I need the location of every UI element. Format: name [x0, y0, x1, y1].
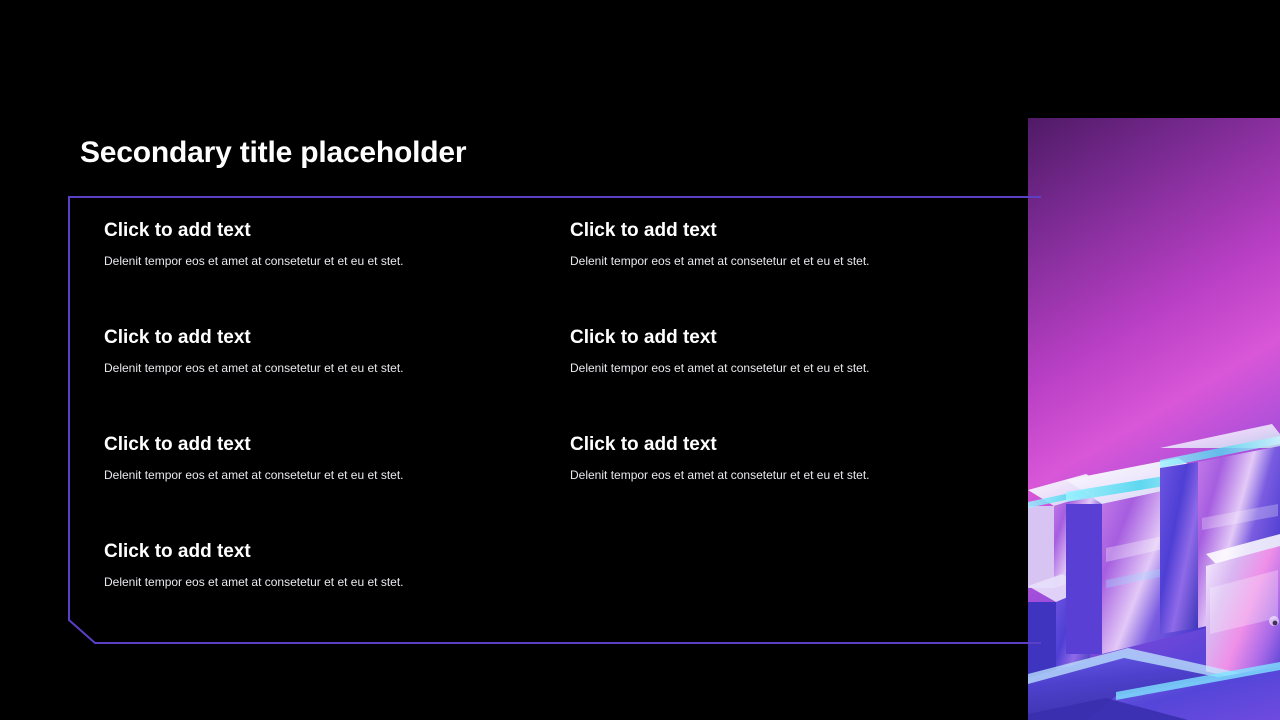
cell-body[interactable]: Delenit tempor eos et amet at consetetur… — [104, 361, 544, 376]
slide-title: Secondary title placeholder — [80, 133, 466, 173]
abstract-3d-glass-blocks-image — [1028, 118, 1280, 720]
cell-heading[interactable]: Click to add text — [104, 540, 544, 564]
cell-body[interactable]: Delenit tempor eos et amet at consetetur… — [104, 468, 544, 483]
cell-body[interactable]: Delenit tempor eos et amet at consetetur… — [570, 254, 1010, 269]
content-cell[interactable]: Click to add text Delenit tempor eos et … — [570, 433, 1010, 483]
content-cell[interactable]: Click to add text Delenit tempor eos et … — [104, 219, 544, 269]
content-cell[interactable]: Click to add text Delenit tempor eos et … — [104, 326, 544, 376]
cell-body[interactable]: Delenit tempor eos et amet at consetetur… — [104, 254, 544, 269]
cell-heading[interactable]: Click to add text — [104, 219, 544, 243]
content-cell[interactable]: Click to add text Delenit tempor eos et … — [570, 326, 1010, 376]
cell-heading[interactable]: Click to add text — [570, 326, 1010, 350]
cell-heading[interactable]: Click to add text — [570, 433, 1010, 457]
cell-body[interactable]: Delenit tempor eos et amet at consetetur… — [570, 468, 1010, 483]
cell-heading[interactable]: Click to add text — [104, 326, 544, 350]
cell-body[interactable]: Delenit tempor eos et amet at consetetur… — [570, 361, 1010, 376]
cell-heading[interactable]: Click to add text — [570, 219, 1010, 243]
presentation-slide: Secondary title placeholder Click to add… — [0, 0, 1280, 720]
cell-heading[interactable]: Click to add text — [104, 433, 544, 457]
content-cell[interactable]: Click to add text Delenit tempor eos et … — [104, 433, 544, 483]
cell-body[interactable]: Delenit tempor eos et amet at consetetur… — [104, 575, 544, 590]
content-cell[interactable]: Click to add text Delenit tempor eos et … — [570, 219, 1010, 269]
content-cell[interactable]: Click to add text Delenit tempor eos et … — [104, 540, 544, 590]
content-grid: Click to add text Delenit tempor eos et … — [104, 219, 1004, 619]
